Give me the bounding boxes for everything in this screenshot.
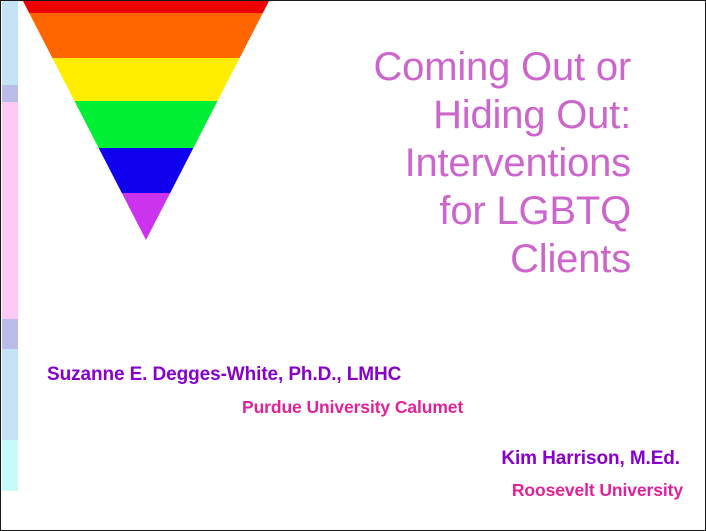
presenter-organization-secondary: Roosevelt University bbox=[512, 480, 683, 501]
ribbon-band-light-blue-bottom bbox=[2, 349, 18, 440]
triangle-band-blue bbox=[21, 148, 271, 193]
ribbon-band-pink bbox=[2, 102, 18, 319]
ribbon-band-light-blue-top bbox=[2, 1, 18, 85]
rainbow-triangle-svg bbox=[21, 1, 271, 241]
triangle-band-violet bbox=[21, 193, 271, 240]
triangle-band-yellow bbox=[21, 58, 271, 101]
slide-title: Coming Out or Hiding Out: Interventions … bbox=[271, 43, 631, 283]
ribbon-band-periwinkle-upper bbox=[2, 85, 18, 102]
inverted-rainbow-triangle bbox=[21, 1, 271, 241]
presenter-name-secondary: Kim Harrison, M.Ed. bbox=[501, 448, 680, 470]
presenter-organization-primary: Purdue University Calumet bbox=[242, 397, 463, 418]
triangle-color-bands bbox=[21, 1, 271, 240]
triangle-band-red bbox=[21, 1, 271, 13]
presentation-title-slide: Coming Out or Hiding Out: Interventions … bbox=[0, 0, 706, 531]
ribbon-band-periwinkle-lower bbox=[2, 319, 18, 349]
left-color-ribbon bbox=[2, 1, 18, 491]
triangle-band-orange bbox=[21, 13, 271, 58]
ribbon-band-cyan bbox=[2, 440, 18, 491]
triangle-band-green bbox=[21, 101, 271, 148]
presenter-name-primary: Suzanne E. Degges-White, Ph.D., LMHC bbox=[47, 364, 401, 386]
